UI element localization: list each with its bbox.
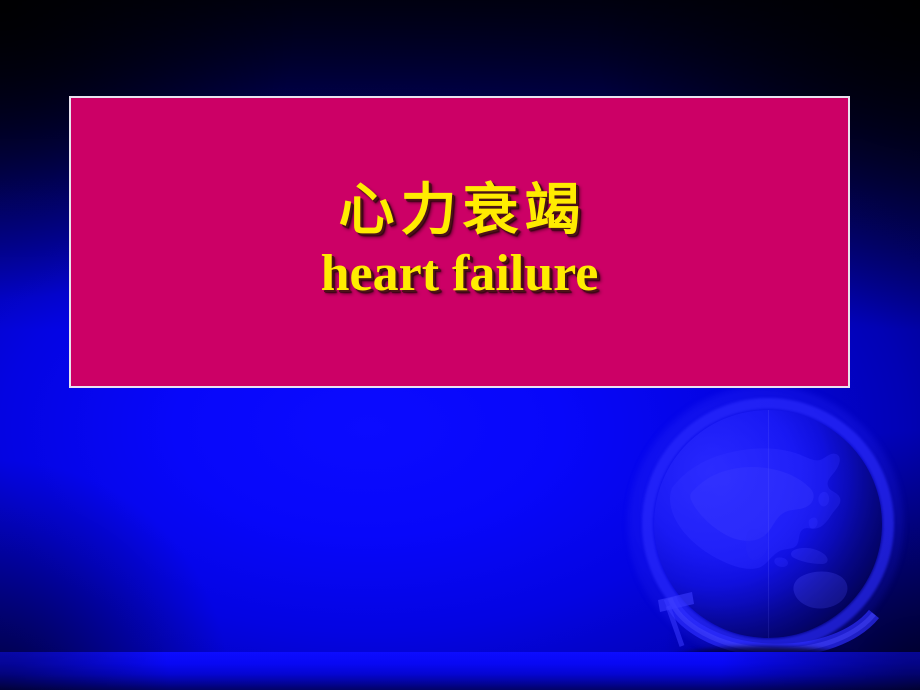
floor-band-shading <box>0 652 920 690</box>
page-title-english: heart failure <box>321 245 599 302</box>
page-title-chinese: 心力衰竭 <box>333 182 587 241</box>
title-box: 心力衰竭 heart failure <box>69 96 850 388</box>
presentation-slide: 心力衰竭 heart failure <box>0 0 920 690</box>
globe-icon <box>612 380 920 660</box>
